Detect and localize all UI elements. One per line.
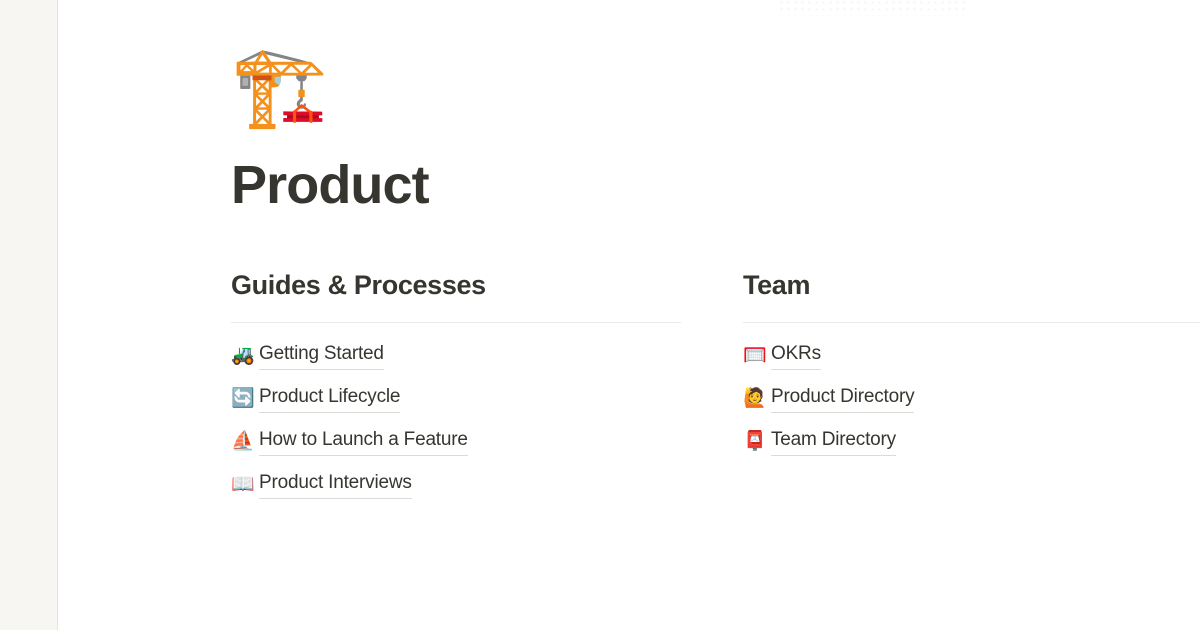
link-list-guides-processes: 🚜 Getting Started 🔄 Product Lifecycle ⛵ … [231,334,681,506]
list-item[interactable]: 🥅 OKRs [743,334,1200,377]
link-list-team: 🥅 OKRs 🙋 Product Directory 📮 Team Direct… [743,334,1200,463]
page-link-product-directory[interactable]: Product Directory [771,385,914,413]
building-construction-emoji[interactable]: 🏗️ [231,47,1200,143]
section-divider [231,322,681,323]
list-item[interactable]: 📖 Product Interviews [231,463,681,506]
section-heading-guides-processes: Guides & Processes [231,269,681,303]
column-guides-processes: Guides & Processes 🚜 Getting Started 🔄 P… [231,269,743,506]
page-link-how-to-launch-a-feature[interactable]: How to Launch a Feature [259,428,468,456]
arrows-counterclockwise-emoji: 🔄 [231,389,259,408]
page-link-getting-started[interactable]: Getting Started [259,342,384,370]
page-link-product-lifecycle[interactable]: Product Lifecycle [259,385,400,413]
postbox-emoji: 📮 [743,432,771,451]
page-title: Product [231,143,1200,215]
person-raising-hand-emoji: 🙋 [743,389,771,408]
page-canvas: 🏗️ Product Guides & Processes 🚜 Getting … [58,0,1200,630]
column-team: Team 🥅 OKRs 🙋 Product Directory 📮 [743,269,1200,506]
list-item[interactable]: 🙋 Product Directory [743,377,1200,420]
list-item[interactable]: 📮 Team Directory [743,420,1200,463]
notion-page-screenshot: 🏗️ Product Guides & Processes 🚜 Getting … [0,0,1200,630]
page-link-product-interviews[interactable]: Product Interviews [259,471,412,499]
page-link-team-directory[interactable]: Team Directory [771,428,896,456]
list-item[interactable]: ⛵ How to Launch a Feature [231,420,681,463]
goal-net-emoji: 🥅 [743,346,771,365]
page-link-okrs[interactable]: OKRs [771,342,821,370]
collapsed-sidebar-rail[interactable] [0,0,58,630]
sailboat-emoji: ⛵ [231,432,259,451]
column-list: Guides & Processes 🚜 Getting Started 🔄 P… [231,269,1200,506]
list-item[interactable]: 🚜 Getting Started [231,334,681,377]
list-item[interactable]: 🔄 Product Lifecycle [231,377,681,420]
section-heading-team: Team [743,269,1200,303]
page-content: 🏗️ Product Guides & Processes 🚜 Getting … [231,0,1200,506]
open-book-emoji: 📖 [231,475,259,494]
tractor-emoji: 🚜 [231,346,259,365]
section-divider [743,322,1200,323]
